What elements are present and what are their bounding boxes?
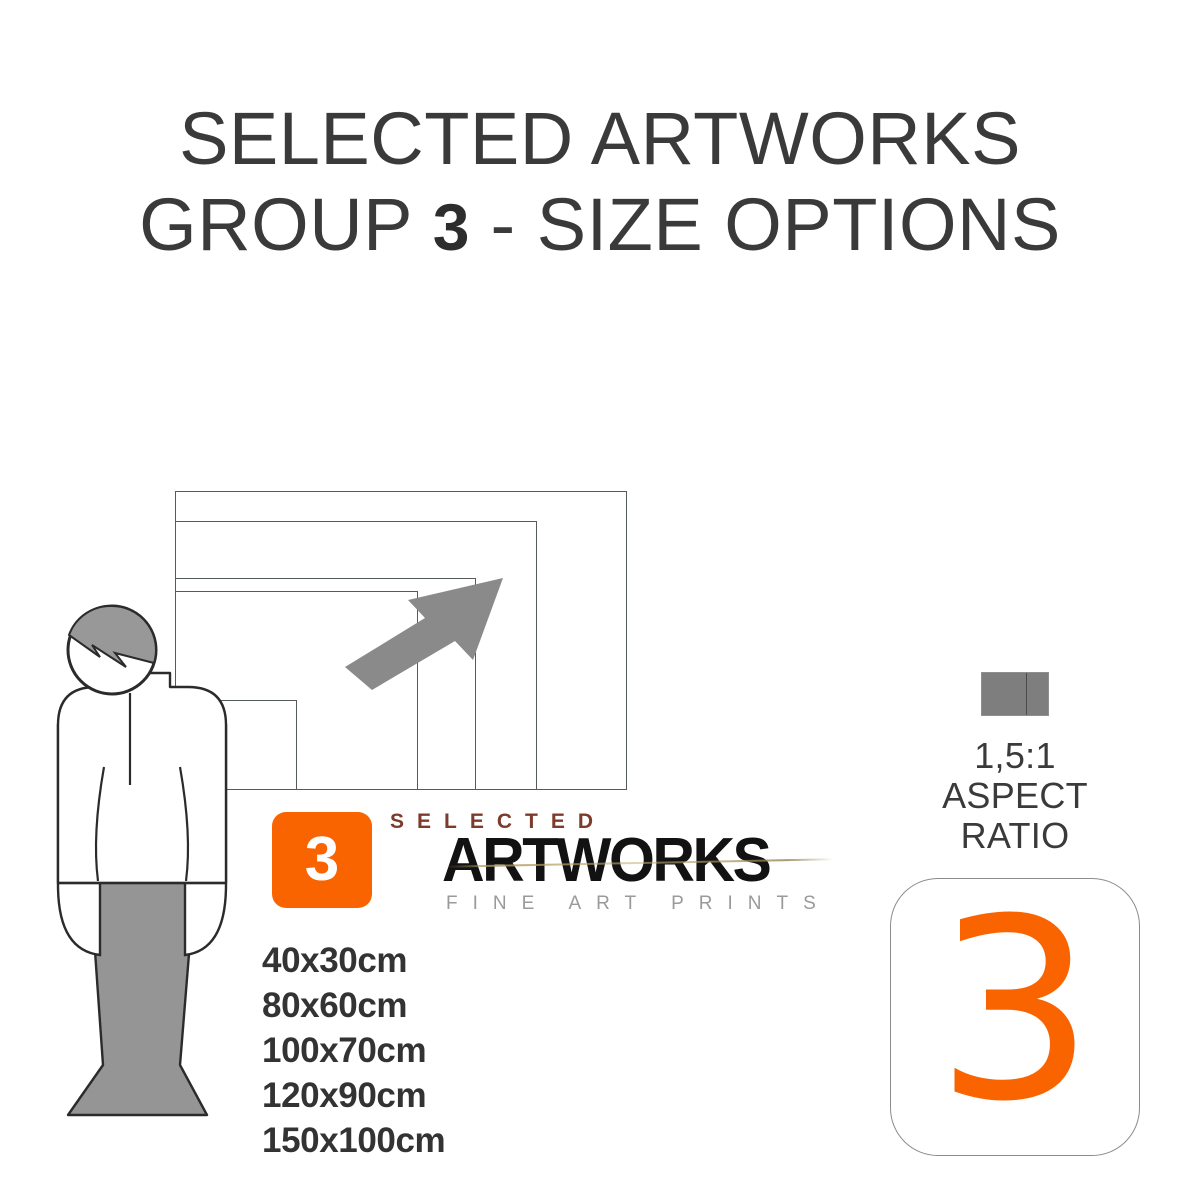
group-badge: 3 xyxy=(272,812,372,908)
group-number-tile: 3 xyxy=(890,878,1140,1156)
size-option-2[interactable]: 80x60cm xyxy=(262,983,602,1028)
title-line-1: SELECTED ARTWORKS xyxy=(0,96,1200,182)
aspect-ratio-divider-line xyxy=(1026,673,1028,715)
title-group-number: 3 xyxy=(433,190,470,264)
aspect-ratio-value: 1,5:1 xyxy=(900,736,1130,776)
poster-root: SELECTED ARTWORKS GROUP 3 - SIZE OPTIONS… xyxy=(0,0,1200,1200)
aspect-ratio-label-line2: RATIO xyxy=(900,816,1130,856)
aspect-ratio-rectangle-icon xyxy=(981,672,1049,716)
page-title: SELECTED ARTWORKS GROUP 3 - SIZE OPTIONS xyxy=(0,96,1200,270)
brand-tagline-text: FINE ART PRINTS xyxy=(446,893,831,915)
aspect-ratio-block: 1,5:1 ASPECT RATIO xyxy=(900,672,1130,856)
brand-logo-row: 3 SELECTED ARTWORKS FINE ART PRINTS xyxy=(272,812,832,920)
brand-mark: SELECTED ARTWORKS FINE ART PRINTS xyxy=(382,810,832,920)
size-options-list: 40x30cm 80x60cm 100x70cm 120x90cm 150x10… xyxy=(262,938,602,1163)
aspect-ratio-label-line1: ASPECT xyxy=(900,776,1130,816)
title-group-prefix: GROUP xyxy=(139,183,433,266)
person-scale-figure-icon xyxy=(30,595,280,1165)
size-option-4[interactable]: 120x90cm xyxy=(262,1073,602,1118)
title-line-2: GROUP 3 - SIZE OPTIONS xyxy=(0,182,1200,270)
group-number-tile-value: 3 xyxy=(935,886,1094,1136)
aspect-ratio-text: 1,5:1 ASPECT RATIO xyxy=(900,736,1130,856)
size-option-5[interactable]: 150x100cm xyxy=(262,1118,602,1163)
size-option-1[interactable]: 40x30cm xyxy=(262,938,602,983)
size-option-3[interactable]: 100x70cm xyxy=(262,1028,602,1073)
title-group-suffix: - SIZE OPTIONS xyxy=(469,183,1060,266)
